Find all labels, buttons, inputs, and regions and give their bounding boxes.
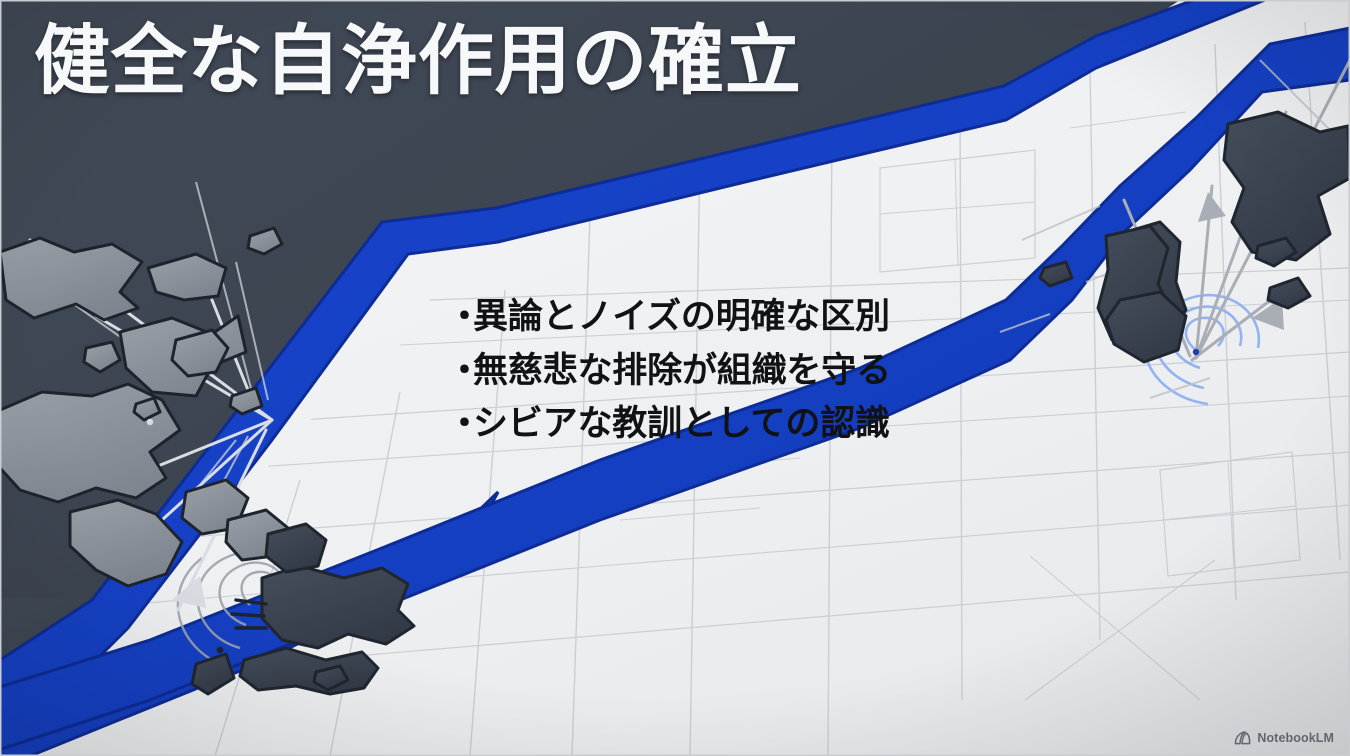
notebooklm-logo-icon — [1234, 731, 1251, 745]
notebooklm-watermark: NotebookLM — [1234, 731, 1334, 745]
slide-canvas: 健全な自浄作用の確立 ・ 異論とノイズの明確な区別 ・ 無慈悲な排除が組織を守る… — [0, 0, 1350, 756]
background-illustration — [0, 0, 1350, 756]
watermark-label: NotebookLM — [1257, 731, 1334, 745]
